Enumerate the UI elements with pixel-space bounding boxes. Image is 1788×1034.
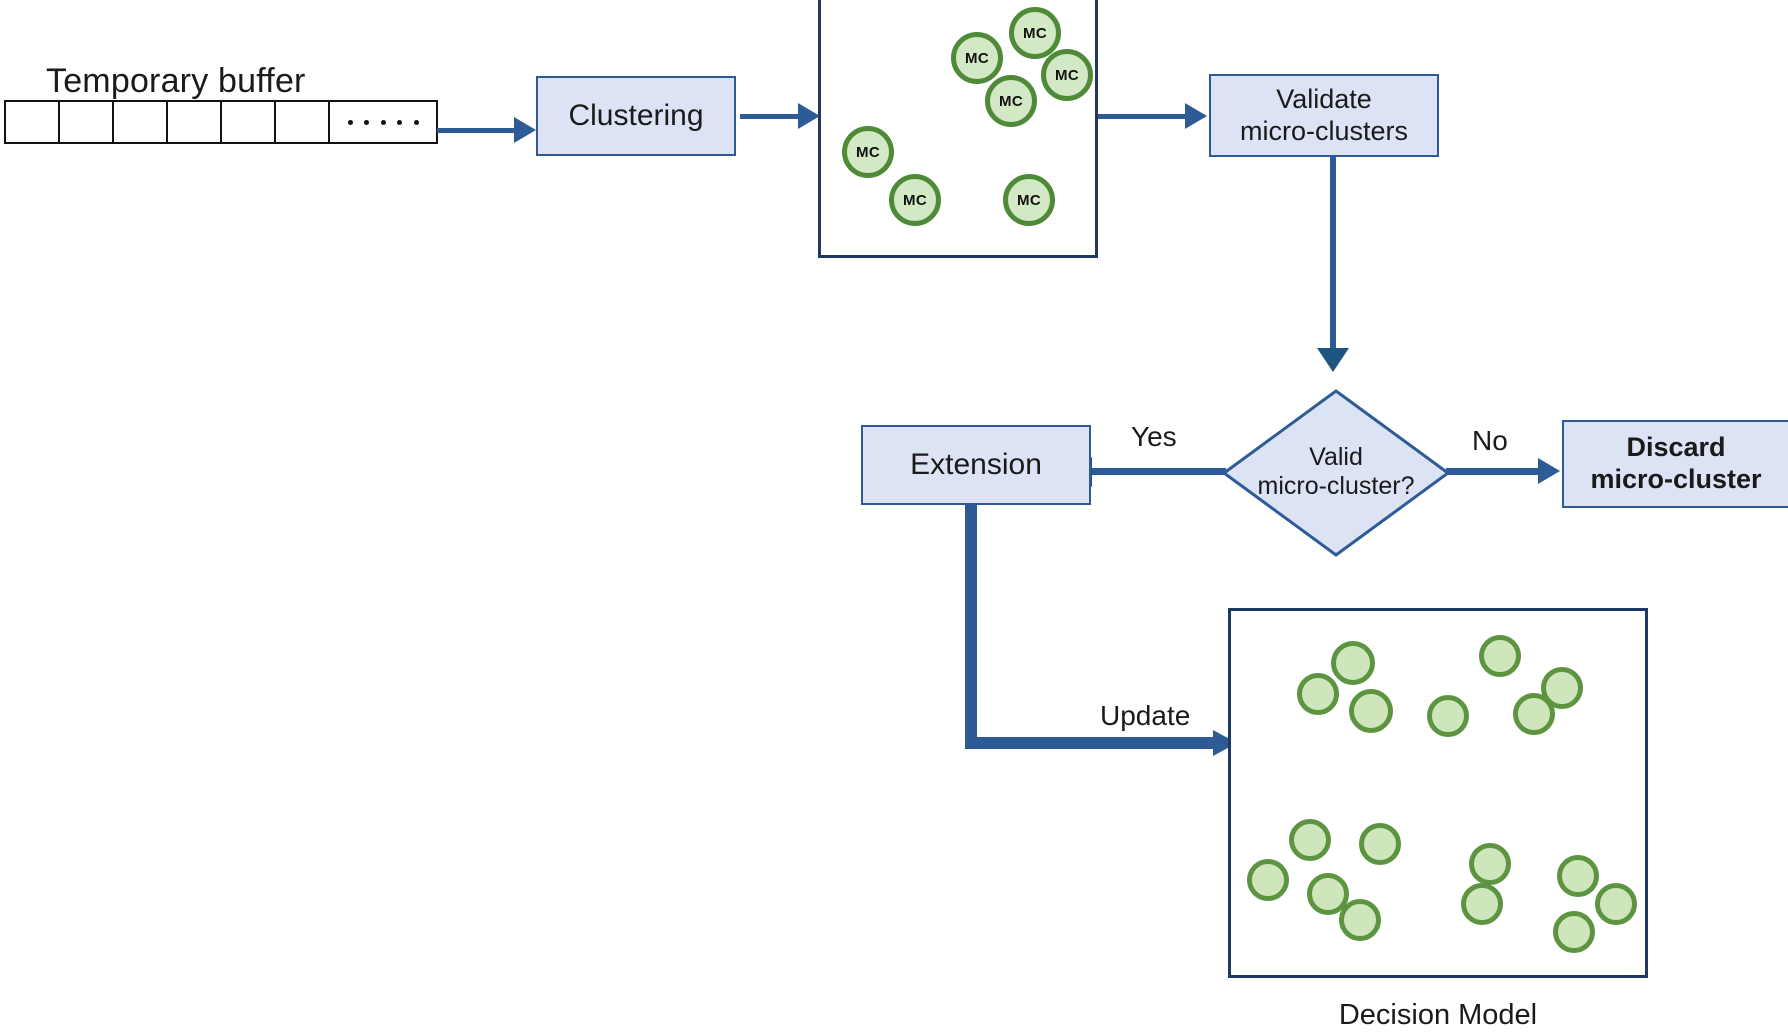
buffer-cell: [114, 102, 168, 142]
decision-model-circle: [1461, 883, 1503, 925]
decision-model-circle: [1339, 899, 1381, 941]
edge-label-yes: Yes: [1131, 421, 1177, 453]
mc-circle: MC: [1003, 174, 1055, 226]
decision-model-circle: [1595, 883, 1637, 925]
temporary-buffer-title: Temporary buffer: [46, 62, 306, 101]
arrow-yes-line: [1091, 468, 1226, 475]
arrow-update-horizontal: [965, 737, 1225, 749]
validate-label-line2: micro-clusters: [1240, 116, 1408, 148]
decision-model-circle: [1553, 911, 1595, 953]
validate-micro-clusters-box[interactable]: Validate micro-clusters: [1209, 74, 1439, 157]
micro-cluster-container: MC MC MC MC MC MC MC: [818, 0, 1098, 258]
clustering-box[interactable]: Clustering: [536, 76, 736, 156]
flowchart-canvas: Temporary buffer Clustering MC MC MC MC …: [0, 0, 1788, 1034]
decision-model-circle: [1469, 843, 1511, 885]
arrow-mcbox-to-validate-line: [1098, 114, 1188, 119]
edge-label-update: Update: [1100, 700, 1190, 732]
mc-circle: MC: [1041, 49, 1093, 101]
buffer-cell: [276, 102, 330, 142]
ellipsis-dot: [364, 120, 369, 125]
decision-model-label: Decision Model: [1228, 999, 1648, 1032]
decision-model-circle: [1427, 695, 1469, 737]
temporary-buffer-strip: [4, 100, 438, 144]
clustering-label: Clustering: [568, 98, 703, 133]
validate-label-line1: Validate: [1240, 84, 1408, 116]
buffer-cell: [222, 102, 276, 142]
decision-model-container: [1228, 608, 1648, 978]
arrow-validate-to-decision-line: [1330, 157, 1336, 352]
ellipsis-dot: [381, 120, 386, 125]
buffer-cell: [60, 102, 114, 142]
extension-label: Extension: [910, 447, 1042, 482]
diamond-shape: [1221, 388, 1451, 558]
valid-micro-cluster-decision[interactable]: [1221, 388, 1451, 558]
buffer-ellipsis: [330, 102, 436, 142]
extension-box[interactable]: Extension: [861, 425, 1091, 505]
edge-label-no: No: [1472, 425, 1508, 457]
buffer-cell: [168, 102, 222, 142]
mc-circle: MC: [951, 32, 1003, 84]
decision-model-circle: [1557, 855, 1599, 897]
arrow-clustering-to-mcbox-line: [740, 114, 802, 119]
discard-label-line2: micro-cluster: [1590, 464, 1761, 496]
mc-circle: MC: [1009, 7, 1061, 59]
decision-model-circle: [1289, 819, 1331, 861]
discard-micro-cluster-box[interactable]: Discard micro-cluster: [1562, 420, 1788, 508]
arrow-buffer-to-clustering-head: [514, 117, 536, 143]
decision-model-circle: [1331, 641, 1375, 685]
discard-label-line1: Discard: [1590, 432, 1761, 464]
decision-model-circle: [1297, 673, 1339, 715]
arrow-validate-to-decision-head: [1317, 348, 1349, 372]
mc-circle: MC: [889, 174, 941, 226]
decision-model-circle: [1541, 667, 1583, 709]
ellipsis-dot: [414, 120, 419, 125]
mc-circle: MC: [985, 75, 1037, 127]
decision-model-circle: [1247, 859, 1289, 901]
arrow-buffer-to-clustering-line: [437, 128, 517, 133]
arrow-clustering-to-mcbox-head: [798, 103, 820, 129]
decision-model-circle: [1349, 689, 1393, 733]
ellipsis-dot: [397, 120, 402, 125]
buffer-cell: [6, 102, 60, 142]
ellipsis-dot: [348, 120, 353, 125]
arrow-no-line: [1446, 468, 1543, 475]
mc-circle: MC: [842, 126, 894, 178]
arrow-mcbox-to-validate-head: [1185, 103, 1207, 129]
decision-model-circle: [1479, 635, 1521, 677]
arrow-update-vertical: [965, 504, 977, 749]
arrow-no-head: [1538, 458, 1560, 484]
decision-model-circle: [1359, 823, 1401, 865]
